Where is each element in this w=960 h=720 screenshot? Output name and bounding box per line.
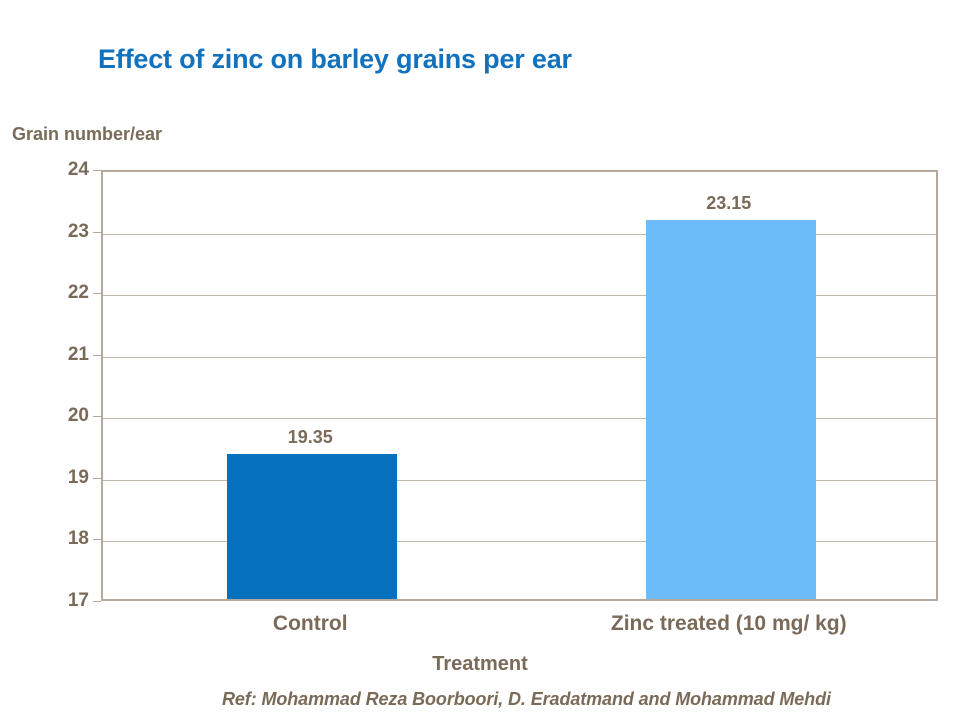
y-axis-title: Grain number/ear <box>12 124 162 145</box>
y-tick-mark <box>93 478 101 479</box>
x-axis-title: Treatment <box>0 653 960 676</box>
bar-value-label: 23.15 <box>706 193 751 214</box>
y-tick-label: 17 <box>43 590 89 612</box>
slide-canvas: Effect of zinc on barley grains per ear … <box>0 0 960 720</box>
reference-footnote: Ref: Mohammad Reza Boorboori, D. Eradatm… <box>222 689 831 710</box>
y-axis-tick-group: 2423222120191817 <box>41 170 101 601</box>
chart-title: Effect of zinc on barley grains per ear <box>98 44 572 75</box>
y-tick-label: 18 <box>43 528 89 550</box>
y-tick-label: 24 <box>43 159 89 181</box>
y-tick-label: 21 <box>43 344 89 366</box>
y-tick-mark <box>93 170 101 171</box>
y-tick-mark <box>93 601 101 602</box>
y-tick-label: 22 <box>43 282 89 304</box>
y-tick-mark <box>93 232 101 233</box>
y-tick-mark <box>93 539 101 540</box>
x-category-label: Zinc treated (10 mg/ kg) <box>611 612 847 636</box>
y-tick-label: 20 <box>43 405 89 427</box>
y-tick-mark <box>93 416 101 417</box>
y-tick-mark <box>93 355 101 356</box>
y-tick-label: 23 <box>43 221 89 243</box>
x-category-label: Control <box>273 612 348 636</box>
y-tick-label: 19 <box>43 467 89 489</box>
bar-control[interactable] <box>227 454 397 599</box>
bar-value-label: 19.35 <box>288 427 333 448</box>
y-tick-mark <box>93 293 101 294</box>
bar-zinc-treated[interactable] <box>646 220 816 599</box>
plot-area <box>101 170 938 601</box>
